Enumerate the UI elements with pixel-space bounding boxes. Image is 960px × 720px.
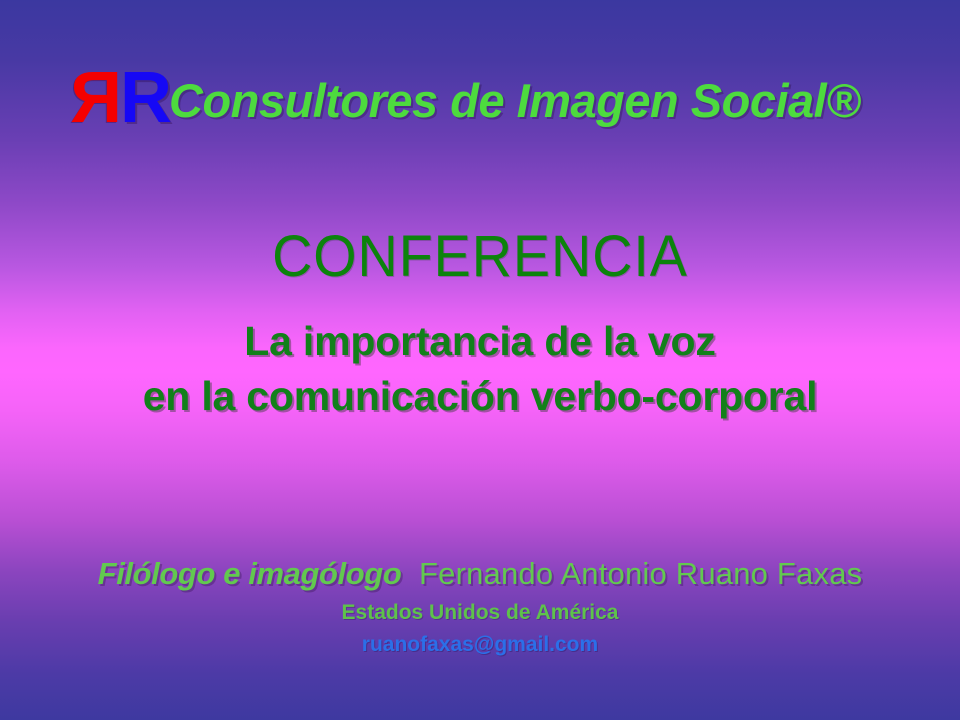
presenter-role: Filólogo e imagólogo xyxy=(98,556,402,591)
brand-name: Consultores de Imagen Social® xyxy=(169,74,860,127)
presenter-name-text: Fernando Antonio Ruano Faxas xyxy=(419,556,862,591)
brand-lockup: RRConsultores de Imagen Social® xyxy=(0,62,960,148)
presenter-name: Fernando Antonio Ruano Faxas xyxy=(401,556,862,591)
presenter-credits: Filólogo e imagólogo Fernando Antonio Ru… xyxy=(0,555,960,657)
title-block: CONFERENCIA La importancia de la voz en … xyxy=(0,228,960,423)
conference-title: La importancia de la voz en la comunicac… xyxy=(0,314,960,423)
conference-title-line-2: en la comunicación verbo-corporal xyxy=(0,369,960,424)
mirrored-r-logo-letter: R xyxy=(72,62,122,134)
presentation-slide: RRConsultores de Imagen Social® CONFEREN… xyxy=(0,0,960,720)
event-type-heading: CONFERENCIA xyxy=(19,228,941,286)
r-logo-letter: R xyxy=(120,62,170,134)
presenter-line: Filólogo e imagólogo Fernando Antonio Ru… xyxy=(0,555,960,593)
brand-monogram: RRConsultores de Imagen Social® xyxy=(72,62,860,134)
conference-title-line-1: La importancia de la voz xyxy=(0,314,960,369)
presenter-country: Estados Unidos de América xyxy=(0,601,960,625)
presenter-email[interactable]: ruanofaxas@gmail.com xyxy=(0,633,960,657)
